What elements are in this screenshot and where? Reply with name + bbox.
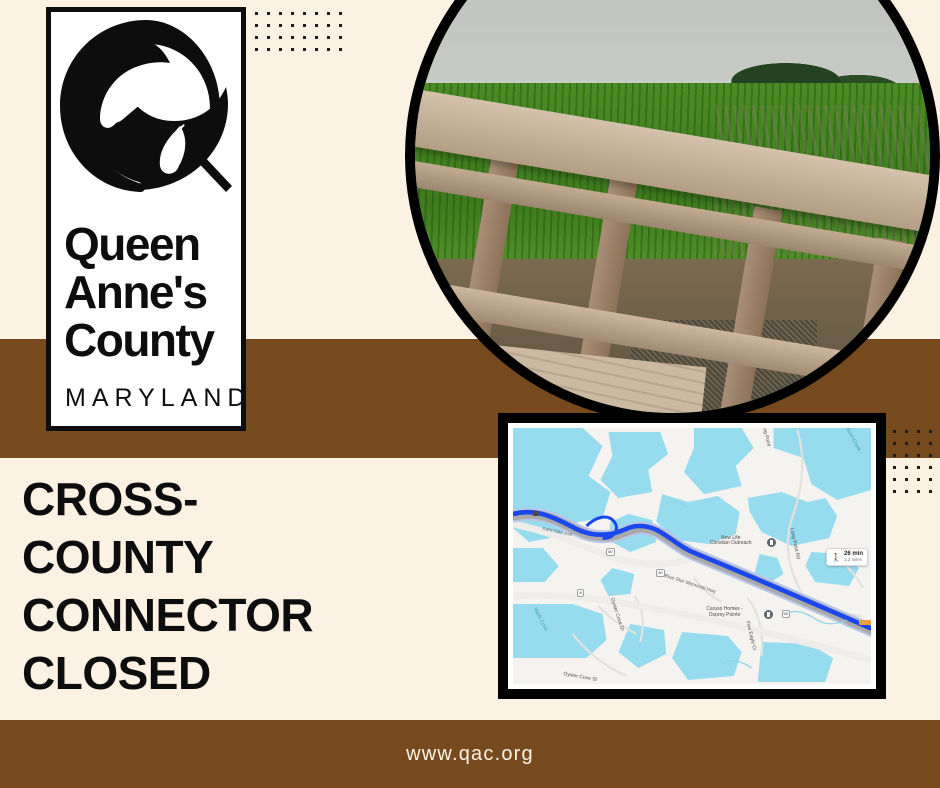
map-route-shield: 50 <box>656 569 664 577</box>
headline-line-1: CROSS- <box>22 470 472 528</box>
q-wave-logo-icon <box>60 20 232 206</box>
boardwalk-photo <box>405 0 940 423</box>
logo-wordmark: Queen Anne's County <box>64 220 239 364</box>
map-poi-caruso-homes[interactable] <box>764 610 773 619</box>
county-logo: Queen Anne's County MARYLAND <box>46 7 246 431</box>
route-distance: 1.2 miles <box>844 558 863 563</box>
footer: www.qac.org <box>0 720 940 788</box>
route-map[interactable]: Jackson Creek Long Point Long Point Rd N… <box>513 428 871 684</box>
logo-line-1: Queen <box>64 220 239 268</box>
map-route-shield: 50 <box>782 610 790 618</box>
website-url[interactable]: www.qac.org <box>406 743 534 766</box>
route-duration-badge[interactable]: 🚶 26 min 1.2 miles <box>826 548 868 566</box>
page-title: CROSS- COUNTY CONNECTOR CLOSED <box>22 470 472 702</box>
walking-person-icon: 🚶 <box>831 553 841 562</box>
map-route-shield: 8 <box>577 589 583 597</box>
map-label-new-life: New Life Christian Outreach <box>710 536 752 548</box>
headline-line-4: CLOSED <box>22 644 472 702</box>
map-inset-white-border: Jackson Creek Long Point Long Point Rd N… <box>508 423 876 689</box>
map-label-caruso-homes: Caruso Homes - Osprey Pointe <box>706 607 742 619</box>
poster-canvas: Queen Anne's County MARYLAND <box>0 0 940 788</box>
logo-line-3: County <box>64 316 239 364</box>
map-inset-frame: Jackson Creek Long Point Long Point Rd N… <box>498 413 886 699</box>
dot-pattern-right <box>893 430 940 502</box>
logo-line-2: Anne's <box>64 268 239 316</box>
headline-line-3: CONNECTOR <box>22 586 472 644</box>
map-route-shield: 50 <box>606 548 614 556</box>
map-graphics <box>513 428 871 684</box>
dot-pattern-top-left <box>255 12 351 60</box>
logo-state-label: MARYLAND <box>65 384 241 413</box>
headline-line-2: COUNTY <box>22 528 472 586</box>
